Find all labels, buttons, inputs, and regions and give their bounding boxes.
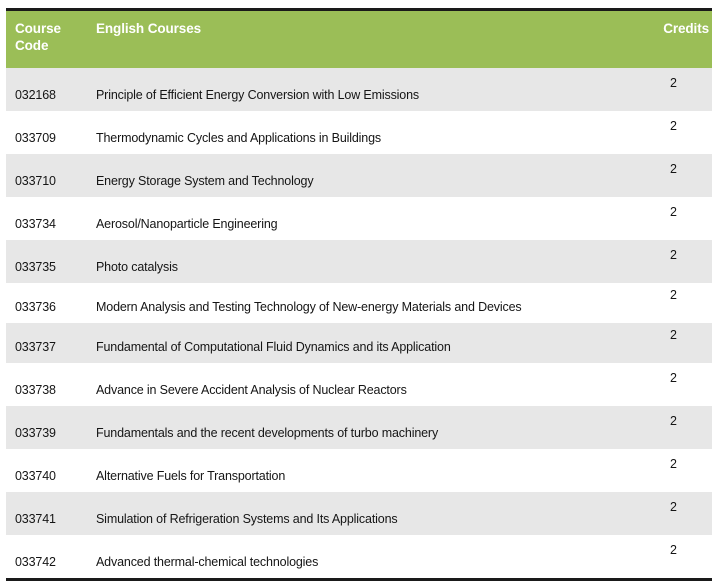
english-courses-table: Course Code English Courses Credits 0321… <box>6 8 712 581</box>
cell-credits: 2 <box>636 111 712 154</box>
cell-course-code: 033710 <box>6 154 87 197</box>
cell-course-name: Photo catalysis <box>87 240 636 283</box>
table-header-row: Course Code English Courses Credits <box>6 10 712 68</box>
cell-course-code: 033737 <box>6 323 87 363</box>
cell-course-code: 033741 <box>6 492 87 535</box>
cell-credits: 2 <box>636 492 712 535</box>
cell-course-name: Advanced thermal-chemical technologies <box>87 535 636 580</box>
cell-course-code: 032168 <box>6 68 87 111</box>
cell-credits: 2 <box>636 154 712 197</box>
cell-course-code: 033742 <box>6 535 87 580</box>
cell-credits: 2 <box>636 68 712 111</box>
table-row: 033735Photo catalysis2 <box>6 240 712 283</box>
cell-course-name: Fundamental of Computational Fluid Dynam… <box>87 323 636 363</box>
cell-course-code: 033736 <box>6 283 87 323</box>
table-header: Course Code English Courses Credits <box>6 10 712 68</box>
cell-course-code: 033734 <box>6 197 87 240</box>
cell-credits: 2 <box>636 363 712 406</box>
table-row: 033737Fundamental of Computational Fluid… <box>6 323 712 363</box>
cell-course-name: Alternative Fuels for Transportation <box>87 449 636 492</box>
column-header-course-code-line2: Code <box>15 38 48 53</box>
table-row: 033741Simulation of Refrigeration System… <box>6 492 712 535</box>
cell-course-name: Advance in Severe Accident Analysis of N… <box>87 363 636 406</box>
table-row: 033709Thermodynamic Cycles and Applicati… <box>6 111 712 154</box>
cell-credits: 2 <box>636 240 712 283</box>
cell-course-code: 033739 <box>6 406 87 449</box>
table-row: 033734Aerosol/Nanoparticle Engineering2 <box>6 197 712 240</box>
cell-course-code: 033740 <box>6 449 87 492</box>
cell-course-code: 033709 <box>6 111 87 154</box>
cell-credits: 2 <box>636 197 712 240</box>
cell-course-name: Principle of Efficient Energy Conversion… <box>87 68 636 111</box>
cell-credits: 2 <box>636 283 712 323</box>
cell-credits: 2 <box>636 323 712 363</box>
cell-credits: 2 <box>636 535 712 580</box>
column-header-credits: Credits <box>636 10 712 68</box>
table-row: 033742Advanced thermal-chemical technolo… <box>6 535 712 580</box>
cell-course-name: Aerosol/Nanoparticle Engineering <box>87 197 636 240</box>
cell-credits: 2 <box>636 406 712 449</box>
cell-course-code: 033735 <box>6 240 87 283</box>
cell-course-name: Thermodynamic Cycles and Applications in… <box>87 111 636 154</box>
column-header-english-courses: English Courses <box>87 10 636 68</box>
table-body: 032168Principle of Efficient Energy Conv… <box>6 68 712 580</box>
cell-course-name: Fundamentals and the recent developments… <box>87 406 636 449</box>
cell-course-name: Simulation of Refrigeration Systems and … <box>87 492 636 535</box>
table-row: 033740Alternative Fuels for Transportati… <box>6 449 712 492</box>
table-row: 033710Energy Storage System and Technolo… <box>6 154 712 197</box>
cell-course-name: Modern Analysis and Testing Technology o… <box>87 283 636 323</box>
table-row: 033736Modern Analysis and Testing Techno… <box>6 283 712 323</box>
cell-course-code: 033738 <box>6 363 87 406</box>
course-table-container: Course Code English Courses Credits 0321… <box>6 8 700 581</box>
column-header-course-code: Course Code <box>6 10 87 68</box>
cell-credits: 2 <box>636 449 712 492</box>
cell-course-name: Energy Storage System and Technology <box>87 154 636 197</box>
table-row: 033738Advance in Severe Accident Analysi… <box>6 363 712 406</box>
column-header-course-code-line1: Course <box>15 21 61 36</box>
table-row: 033739Fundamentals and the recent develo… <box>6 406 712 449</box>
table-row: 032168Principle of Efficient Energy Conv… <box>6 68 712 111</box>
